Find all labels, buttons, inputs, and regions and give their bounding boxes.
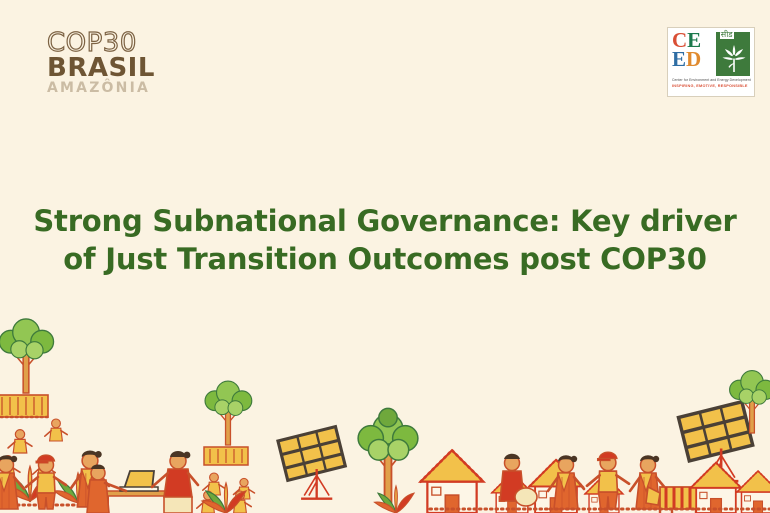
folk-art-illustration-band: [0, 283, 770, 513]
slide-canvas: COP30 BRASIL AMAZÔNIA CE ED सीड: [0, 0, 770, 513]
ceed-tagline-secondary: INSPIRING, EMOTIVE, RESPONSIBLE: [672, 83, 750, 89]
ceed-letter-e2: E: [672, 47, 686, 71]
cop30-logo: COP30 BRASIL AMAZÔNIA: [47, 30, 147, 100]
ceed-logo: CE ED सीड: [667, 27, 755, 97]
ceed-logo-top: CE ED सीड: [672, 31, 750, 76]
cop30-logo-line-brasil: BRASIL: [47, 55, 147, 82]
ceed-logo-row-2: ED: [672, 50, 714, 69]
ceed-leaf-mark: सीड: [716, 32, 750, 76]
cop30-logo-line-amazonia: AMAZÔNIA: [47, 81, 147, 95]
plant-icon: [721, 43, 747, 78]
page-title: Strong Subnational Governance: Key drive…: [0, 202, 770, 278]
ceed-letter-d: D: [686, 47, 701, 71]
ceed-logo-letters: CE ED: [672, 31, 714, 70]
ceed-hindi-text: सीड: [720, 30, 734, 39]
